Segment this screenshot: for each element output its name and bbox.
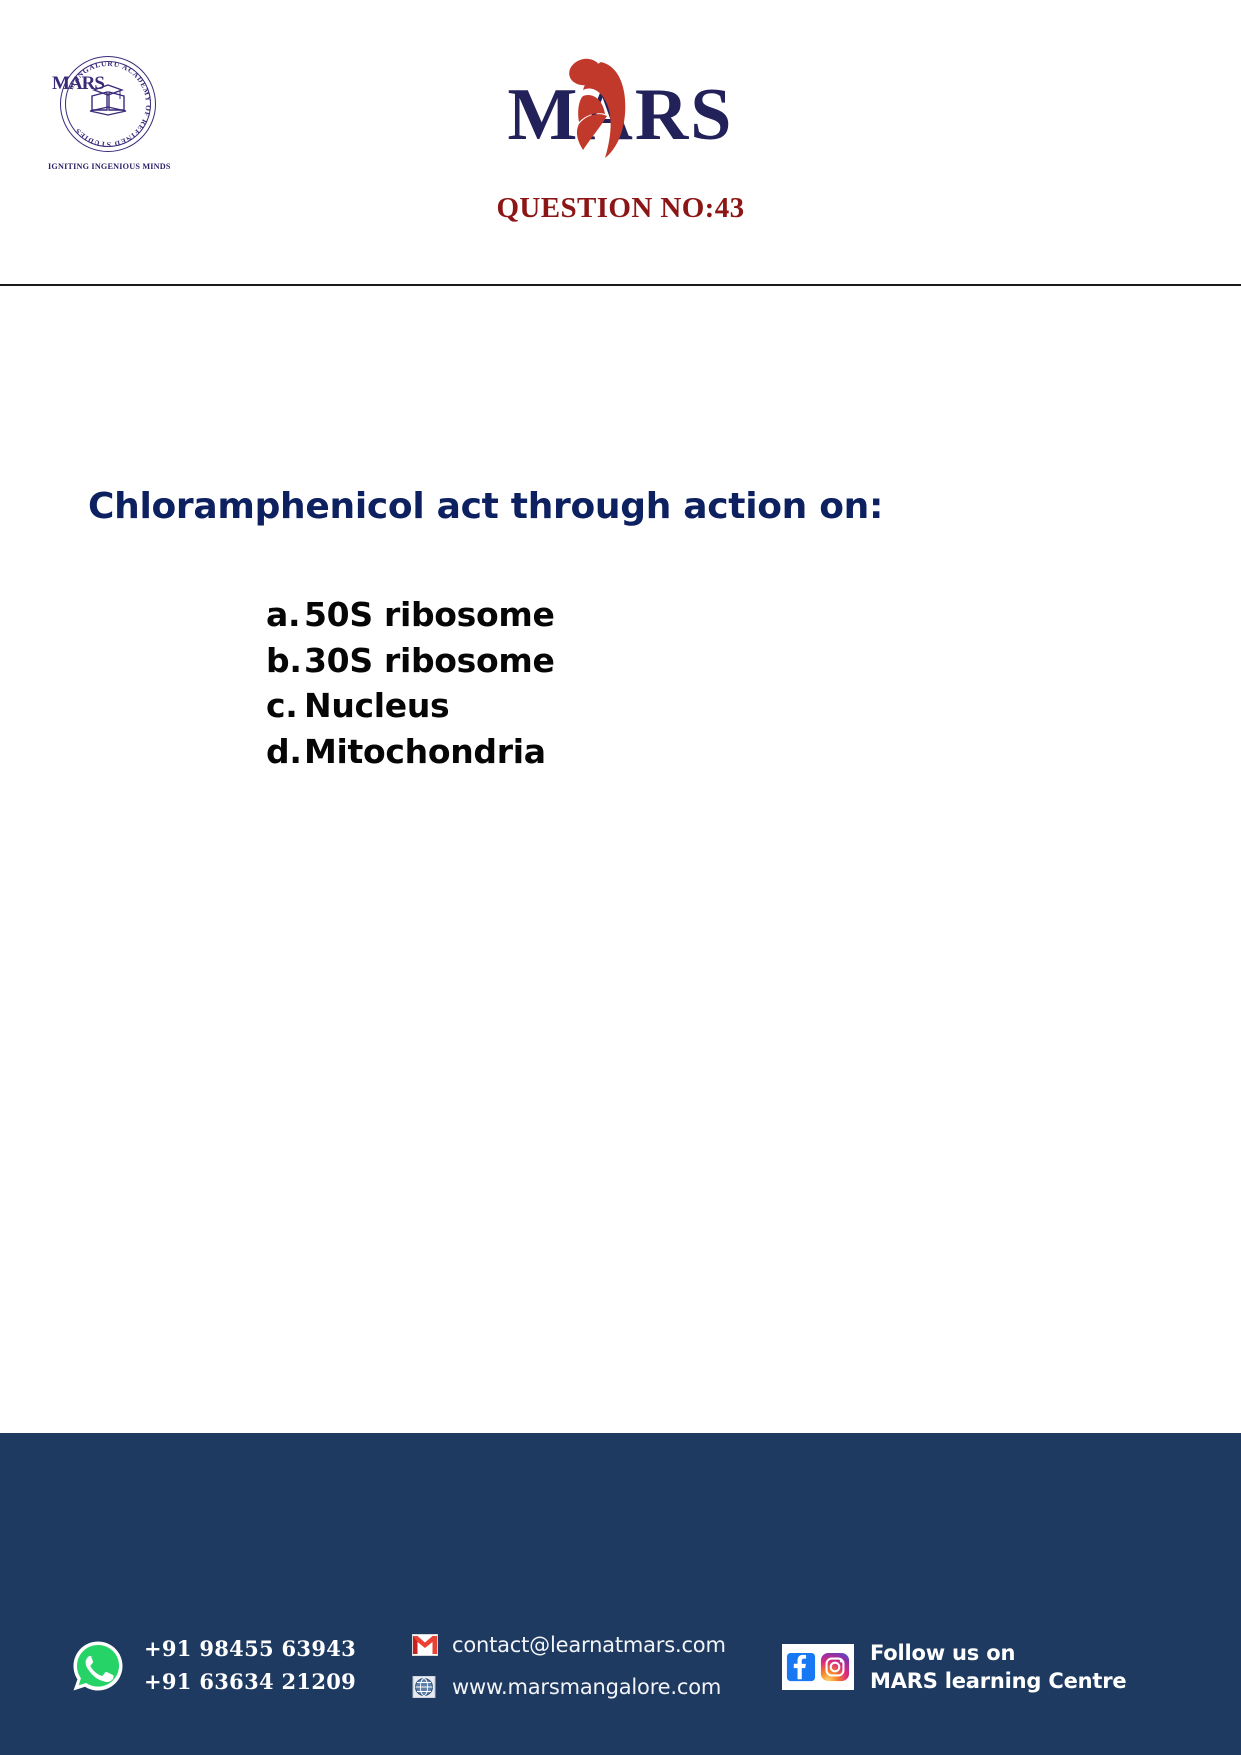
option-d-key: d. xyxy=(266,729,304,775)
whatsapp-icon[interactable] xyxy=(70,1638,126,1694)
option-c[interactable]: c. Nucleus xyxy=(266,683,555,729)
option-d-text: Mitochondria xyxy=(304,729,546,775)
email-text: contact@learnatmars.com xyxy=(452,1633,726,1657)
option-c-key: c. xyxy=(266,683,304,729)
instagram-icon[interactable] xyxy=(820,1652,850,1682)
globe-icon xyxy=(412,1676,438,1698)
question-content: Chloramphenicol act through action on: a… xyxy=(0,286,1241,1433)
follow-us-text: Follow us on MARS learning Centre xyxy=(870,1639,1126,1696)
question-page: MANGALURU ACADEMY OF REFINED STUDIES MAR… xyxy=(0,0,1241,1755)
website-line[interactable]: www.marsmangalore.com xyxy=(412,1675,726,1699)
follow-line-2: MARS learning Centre xyxy=(870,1667,1126,1695)
question-stem: Chloramphenicol act through action on: xyxy=(88,486,883,527)
option-b-key: b. xyxy=(266,638,304,684)
gmail-icon xyxy=(412,1634,438,1656)
mars-running-figure-icon xyxy=(557,52,649,162)
social-icons-box xyxy=(782,1644,854,1690)
phone-numbers: +91 98455 63943 +91 63634 21209 xyxy=(144,1633,356,1698)
seal-tagline: IGNITING INGENIOUS MINDS xyxy=(48,162,168,171)
options-list: a. 50S ribosome b. 30S ribosome c. Nucle… xyxy=(266,592,555,774)
option-c-text: Nucleus xyxy=(304,683,449,729)
option-b-text: 30S ribosome xyxy=(304,638,555,684)
website-text: www.marsmangalore.com xyxy=(452,1675,721,1699)
footer-contact-group: contact@learnatmars.com www.marsmangalor… xyxy=(412,1633,726,1699)
phone-1[interactable]: +91 98455 63943 xyxy=(144,1633,356,1666)
option-b[interactable]: b. 30S ribosome xyxy=(266,638,555,684)
page-header: MANGALURU ACADEMY OF REFINED STUDIES MAR… xyxy=(0,0,1241,286)
footer-social-group: Follow us on MARS learning Centre xyxy=(782,1639,1126,1696)
mars-brand-logo: MARS xyxy=(0,52,1241,162)
phone-2[interactable]: +91 63634 21209 xyxy=(144,1666,356,1699)
page-footer: +91 98455 63943 +91 63634 21209 contact@… xyxy=(0,1433,1241,1755)
question-number-label: QUESTION NO:43 xyxy=(0,192,1241,225)
follow-line-1: Follow us on xyxy=(870,1639,1126,1667)
option-a[interactable]: a. 50S ribosome xyxy=(266,592,555,638)
footer-contact-row: +91 98455 63943 +91 63634 21209 contact@… xyxy=(0,1605,1241,1755)
footer-phone-group: +91 98455 63943 +91 63634 21209 xyxy=(70,1633,356,1698)
option-a-key: a. xyxy=(266,592,304,638)
email-line[interactable]: contact@learnatmars.com xyxy=(412,1633,726,1657)
option-d[interactable]: d. Mitochondria xyxy=(266,729,555,775)
option-a-text: 50S ribosome xyxy=(304,592,555,638)
facebook-icon[interactable] xyxy=(786,1652,816,1682)
